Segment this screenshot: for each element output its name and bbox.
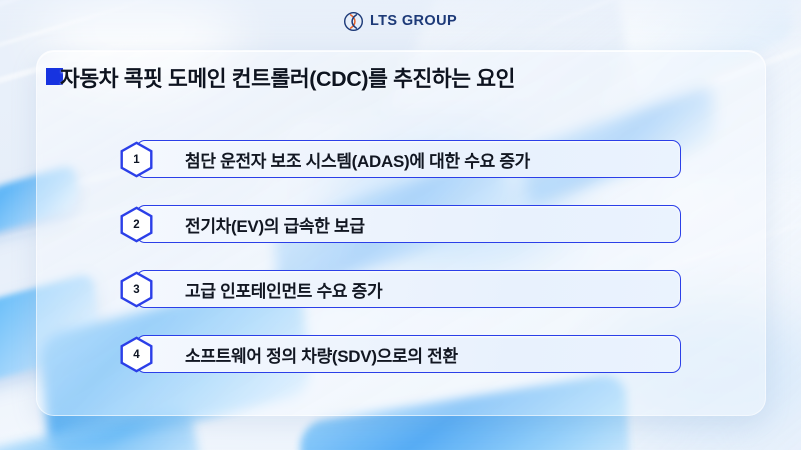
factor-label: 전기차(EV)의 급속한 보급	[185, 212, 365, 237]
factor-list: 첨단 운전자 보조 시스템(ADAS)에 대한 수요 증가 1 전기차(EV)의…	[118, 140, 681, 373]
factor-label: 소프트웨어 정의 차량(SDV)으로의 전환	[185, 342, 458, 367]
page-title: 자동차 콕핏 도메인 컨트롤러(CDC)를 추진하는 요인	[46, 66, 515, 93]
list-item[interactable]: 고급 인포테인먼트 수요 증가 3	[118, 270, 681, 308]
page-title-text: 자동차 콕핏 도메인 컨트롤러(CDC)를 추진하는 요인	[60, 66, 515, 93]
list-item[interactable]: 소프트웨어 정의 차량(SDV)으로의 전환 4	[118, 335, 681, 373]
factor-number: 4	[118, 336, 155, 373]
factor-number-badge: 2	[118, 206, 155, 243]
lts-group-logo-icon	[344, 12, 363, 31]
list-item[interactable]: 첨단 운전자 보조 시스템(ADAS)에 대한 수요 증가 1	[118, 140, 681, 178]
factor-pill[interactable]: 전기차(EV)의 급속한 보급	[136, 205, 681, 243]
factor-number: 1	[118, 141, 155, 178]
factor-pill[interactable]: 첨단 운전자 보조 시스템(ADAS)에 대한 수요 증가	[136, 140, 681, 178]
factor-label: 고급 인포테인먼트 수요 증가	[185, 277, 382, 302]
factor-number: 2	[118, 206, 155, 243]
factor-pill[interactable]: 고급 인포테인먼트 수요 증가	[136, 270, 681, 308]
slide-canvas: LTS GROUP 자동차 콕핏 도메인 컨트롤러(CDC)를 추진하는 요인 …	[0, 0, 801, 450]
factor-label: 첨단 운전자 보조 시스템(ADAS)에 대한 수요 증가	[185, 147, 530, 172]
factor-number-badge: 3	[118, 271, 155, 308]
list-item[interactable]: 전기차(EV)의 급속한 보급 2	[118, 205, 681, 243]
top-bar: LTS GROUP	[0, 0, 801, 42]
brand-logo: LTS GROUP	[344, 12, 457, 31]
logo-text: LTS GROUP	[370, 13, 457, 29]
factor-number-badge: 1	[118, 141, 155, 178]
factor-number: 3	[118, 271, 155, 308]
factor-number-badge: 4	[118, 336, 155, 373]
factor-pill[interactable]: 소프트웨어 정의 차량(SDV)으로의 전환	[136, 335, 681, 373]
